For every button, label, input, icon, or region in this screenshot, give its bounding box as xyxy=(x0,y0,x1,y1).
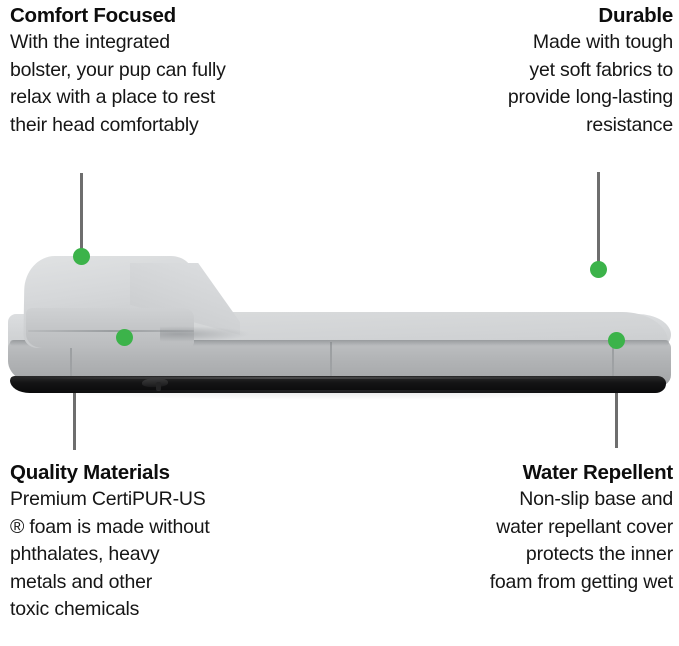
feature-body-quality-materials: Premium CertiPUR-US ® foam is made witho… xyxy=(10,486,340,624)
feature-block-durable: Durable Made with tough yet soft fabrics… xyxy=(343,2,673,139)
feature-body-line: Premium CertiPUR-US xyxy=(10,486,340,514)
callout-dot-quality-materials xyxy=(116,329,133,346)
feature-body-line: provide long-lasting xyxy=(343,84,673,112)
ground-shadow xyxy=(30,390,650,400)
feature-title-water-repellent: Water Repellent xyxy=(343,459,673,486)
feature-body-line: Non-slip base and xyxy=(343,486,673,514)
feature-body-line: protects the inner xyxy=(343,541,673,569)
feature-body-line: yet soft fabrics to xyxy=(343,57,673,85)
feature-block-water-repellent: Water Repellent Non-slip base and water … xyxy=(343,459,673,596)
feature-body-line: resistance xyxy=(343,112,673,140)
feature-body-water-repellent: Non-slip base and water repellant cover … xyxy=(343,486,673,596)
bolster-cast-shadow xyxy=(160,326,250,342)
feature-body-line: metals and other xyxy=(10,569,340,597)
feature-block-comfort-focused: Comfort Focused With the integrated bols… xyxy=(10,2,340,139)
feature-title-quality-materials: Quality Materials xyxy=(10,459,340,486)
feature-body-line: With the integrated xyxy=(10,29,340,57)
feature-body-comfort-focused: With the integrated bolster, your pup ca… xyxy=(10,29,340,139)
feature-body-durable: Made with tough yet soft fabrics to prov… xyxy=(343,29,673,139)
feature-body-line: phthalates, heavy xyxy=(10,541,340,569)
feature-body-line: their head comfortably xyxy=(10,112,340,140)
feature-body-line: bolster, your pup can fully xyxy=(10,57,340,85)
feature-title-durable: Durable xyxy=(343,2,673,29)
feature-body-line: foam from getting wet xyxy=(343,569,673,597)
feature-title-comfort-focused: Comfort Focused xyxy=(10,2,340,29)
product-image-dog-bed xyxy=(0,230,679,395)
feature-body-line: ® foam is made without xyxy=(10,514,340,542)
callout-dot-durable xyxy=(590,261,607,278)
base-highlight xyxy=(20,377,650,379)
feature-infographic: Comfort Focused With the integrated bols… xyxy=(0,0,679,646)
feature-body-line: relax with a place to rest xyxy=(10,84,340,112)
feature-body-line: toxic chemicals xyxy=(10,596,340,624)
callout-dot-water-repellent xyxy=(608,332,625,349)
callout-dot-comfort-focused xyxy=(73,248,90,265)
feature-block-quality-materials: Quality Materials Premium CertiPUR-US ® … xyxy=(10,459,340,624)
feature-body-line: Made with tough xyxy=(343,29,673,57)
feature-body-line: water repellant cover xyxy=(343,514,673,542)
